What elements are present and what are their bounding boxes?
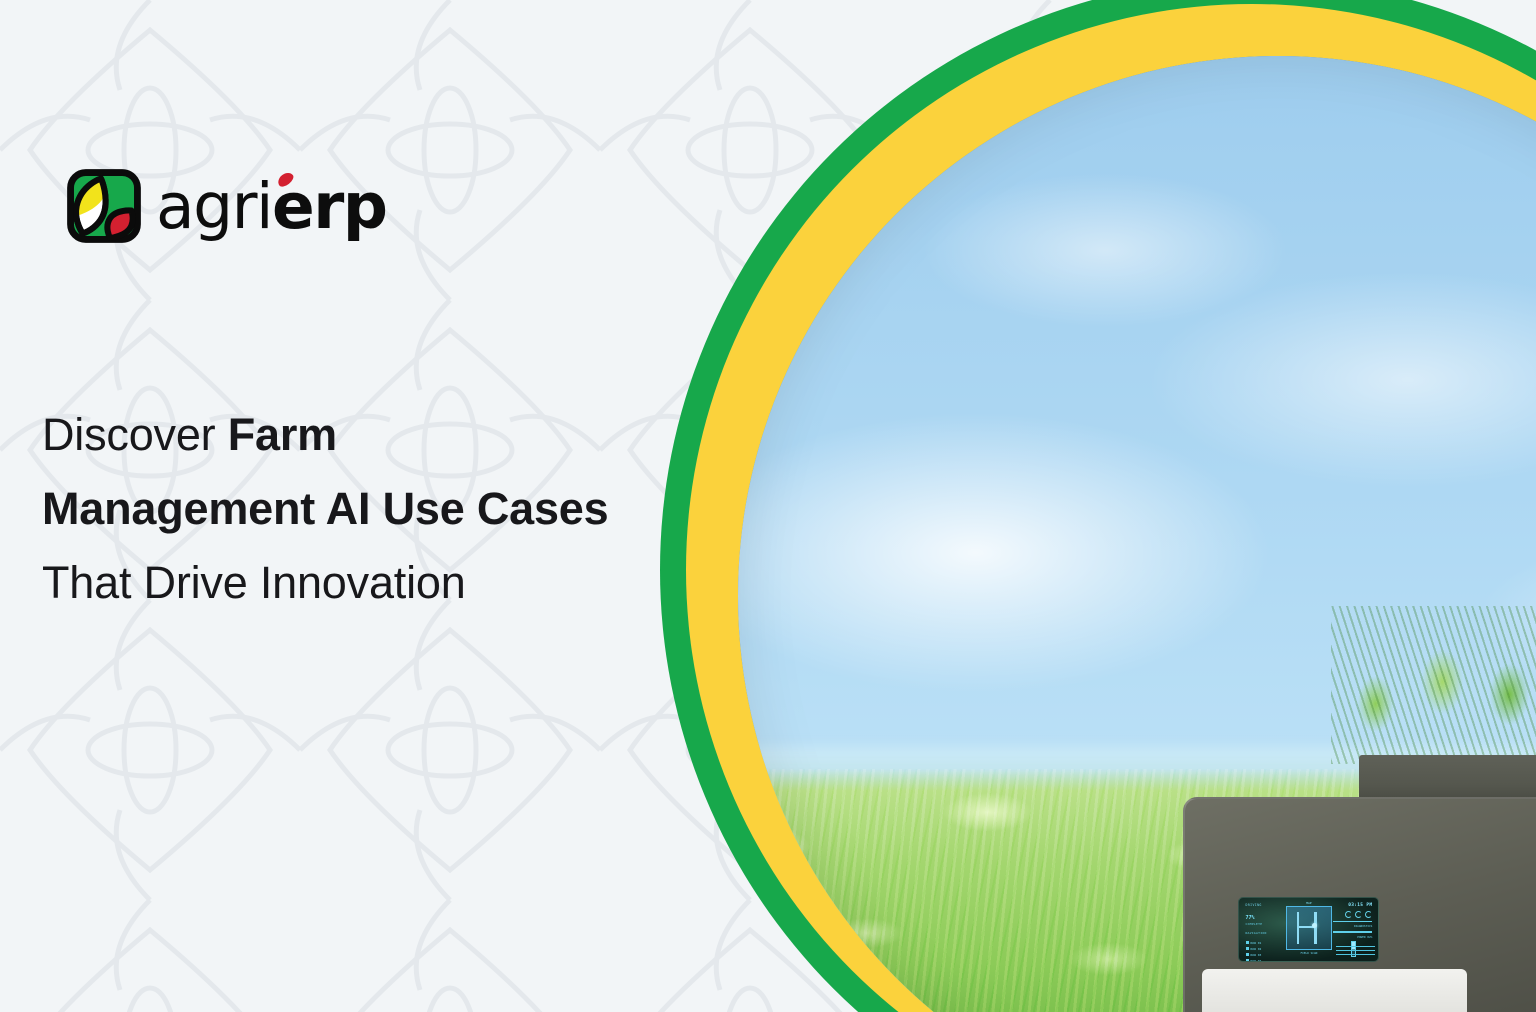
display-time: 03:15 PM <box>1333 903 1372 908</box>
display-gauge-icons <box>1333 911 1372 918</box>
headline-line-3: That Drive Innovation <box>42 546 702 620</box>
farm-robot: DRIVING 77% COMPLETE NAVIGATION ROW 01 R… <box>1127 618 1536 1012</box>
list-item: ROW 03 <box>1246 953 1282 957</box>
display-left-column: DRIVING 77% COMPLETE NAVIGATION ROW 01 R… <box>1246 903 1282 963</box>
display-right-label-2: POWER 82% <box>1333 935 1372 939</box>
display-map-footer: FIELD SCAN <box>1286 951 1332 955</box>
display-right-label-1: DIAGNOSTICS <box>1333 924 1372 928</box>
robot-head-panel: DRIVING 77% COMPLETE NAVIGATION ROW 01 R… <box>1183 797 1536 1012</box>
agrierp-leaf-logo-icon <box>66 168 142 244</box>
display-section-label: NAVIGATION <box>1246 931 1282 935</box>
display-right-column: 03:15 PM DIAGNOSTICS POWER 82% <box>1333 903 1372 939</box>
list-item: ROW 01 <box>1246 941 1282 945</box>
display-progress-sub: COMPLETE <box>1246 922 1282 926</box>
display-bar-rows <box>1336 946 1375 957</box>
display-map-label: MAP <box>1286 901 1332 905</box>
headline-line-1-light: Discover <box>42 409 228 460</box>
display-progress-value: 77% <box>1246 909 1282 921</box>
banner-stage: agrierp Discover Farm Management AI Use … <box>0 0 1536 1012</box>
brand-logo[interactable]: agrierp <box>66 168 386 244</box>
headline-line-2: Management AI Use Cases <box>42 472 702 546</box>
display-row-list: ROW 01 ROW 02 ROW 03 ROW 04 <box>1246 941 1282 963</box>
hero-photo: DRIVING 77% COMPLETE NAVIGATION ROW 01 R… <box>738 56 1536 1012</box>
robot-status-display[interactable]: DRIVING 77% COMPLETE NAVIGATION ROW 01 R… <box>1238 897 1379 963</box>
hero-circle-yellow-ring: DRIVING 77% COMPLETE NAVIGATION ROW 01 R… <box>686 4 1536 1012</box>
hero-circle-green-ring: DRIVING 77% COMPLETE NAVIGATION ROW 01 R… <box>660 0 1536 1012</box>
seedling-plants <box>1331 606 1536 763</box>
display-field-map <box>1286 906 1332 949</box>
robot-head-lower <box>1202 969 1467 1012</box>
display-status-label: DRIVING <box>1246 903 1282 907</box>
headline-line-1: Discover Farm <box>42 398 702 472</box>
page-title: Discover Farm Management AI Use Cases Th… <box>42 398 702 620</box>
wordmark-light: agri <box>156 170 272 243</box>
list-item: ROW 02 <box>1246 947 1282 951</box>
headline-line-1-bold: Farm <box>228 409 337 460</box>
list-item: ROW 04 <box>1246 959 1282 962</box>
brand-wordmark: agrierp <box>156 175 386 238</box>
